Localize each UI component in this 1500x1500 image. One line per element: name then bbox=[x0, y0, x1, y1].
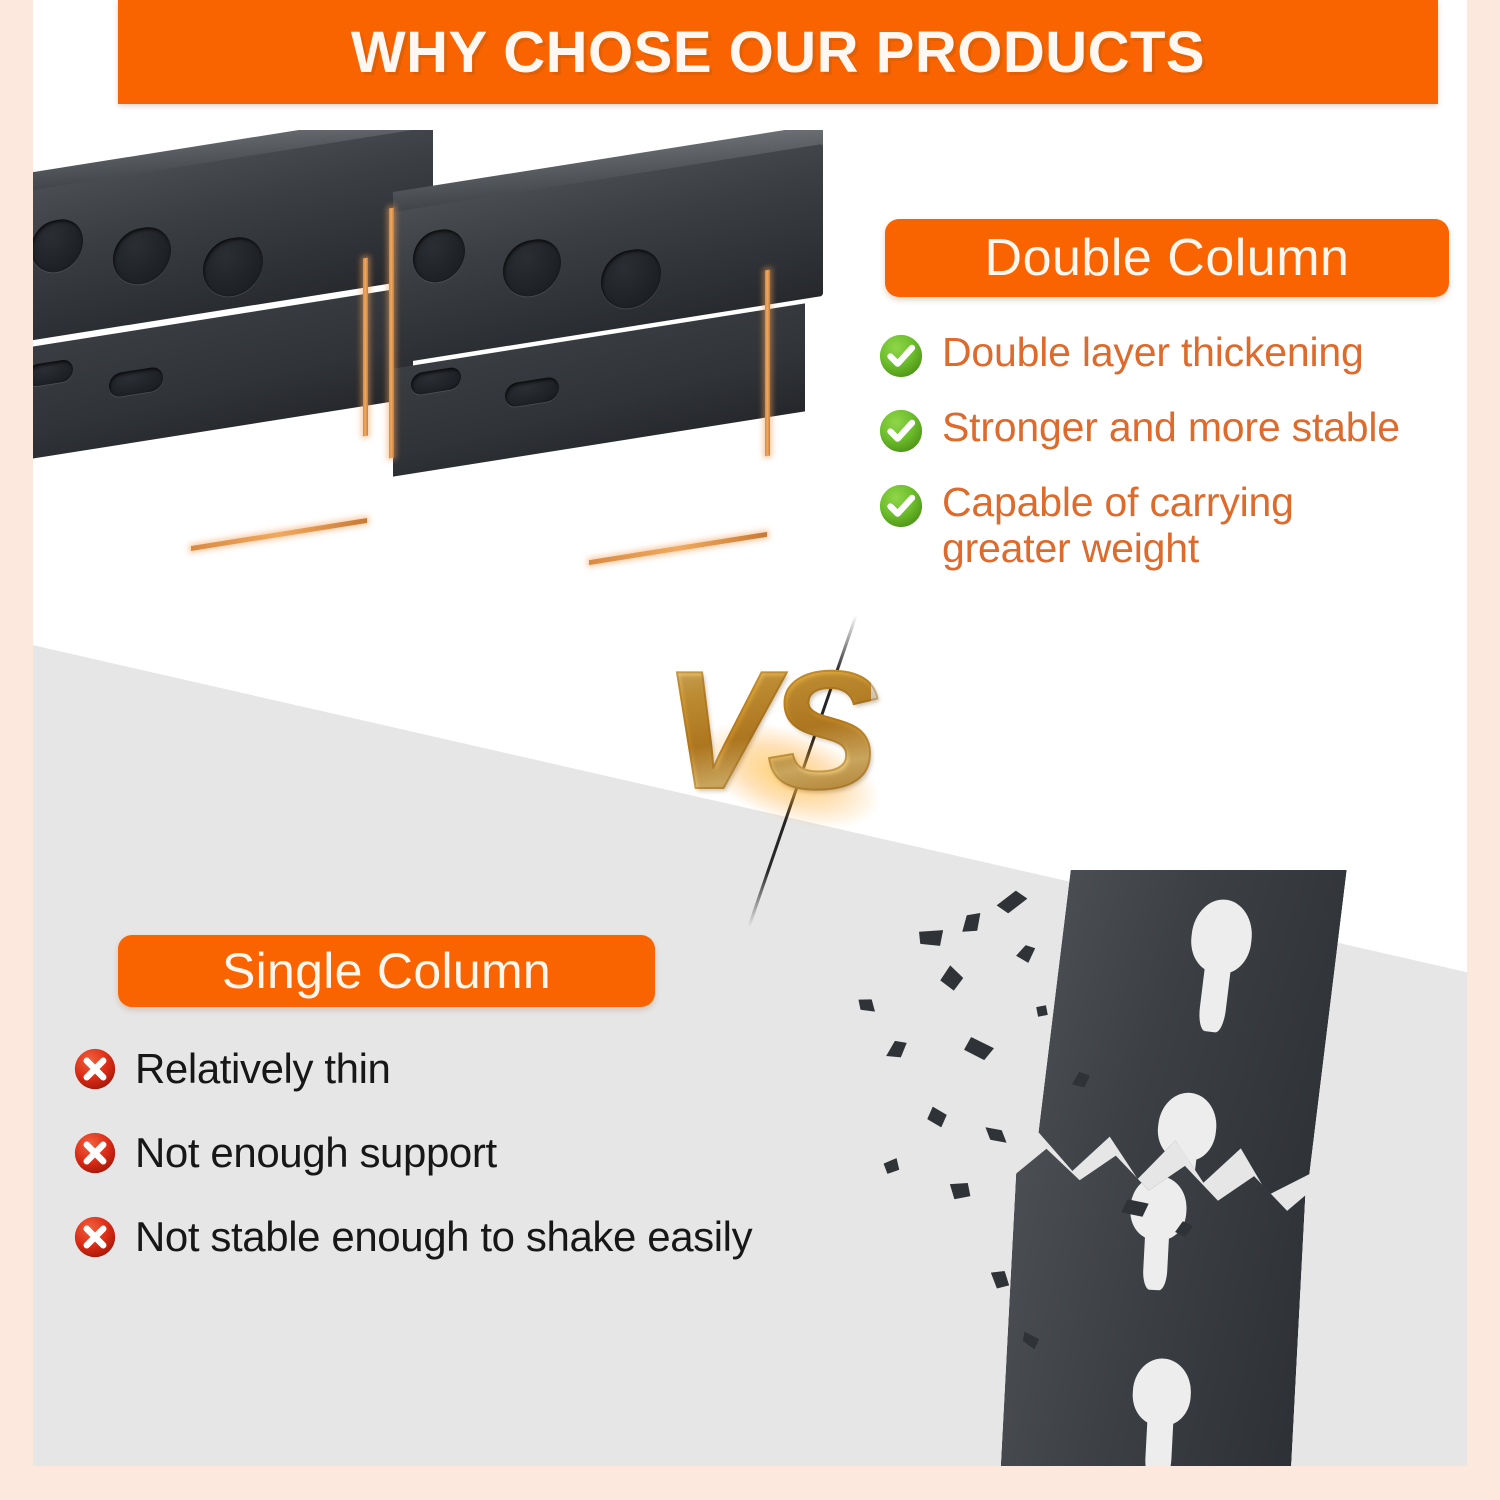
list-item: Double layer thickening bbox=[878, 330, 1467, 379]
drawback-text: Relatively thin bbox=[135, 1046, 390, 1092]
page-title: WHY CHOSE OUR PRODUCTS bbox=[351, 19, 1205, 86]
list-item: Capable of carrying greater weight bbox=[878, 480, 1467, 572]
debris-shard bbox=[939, 964, 966, 992]
cross-circle-icon bbox=[73, 1047, 117, 1091]
broken-column-photo bbox=[823, 870, 1467, 1466]
rail-copper-edge-bottom bbox=[589, 532, 767, 565]
drawback-text: Not enough support bbox=[135, 1130, 497, 1176]
cross-circle-icon bbox=[73, 1215, 117, 1259]
double-column-badge-label: Double Column bbox=[985, 228, 1350, 288]
debris-shard bbox=[855, 995, 879, 1016]
debris-shard bbox=[925, 1104, 949, 1130]
debris-shard bbox=[986, 1265, 1014, 1293]
debris-shard bbox=[1014, 942, 1040, 967]
list-item: Relatively thin bbox=[73, 1046, 903, 1092]
keyhole-stem bbox=[1145, 1409, 1174, 1466]
benefit-text: Stronger and more stable bbox=[942, 405, 1400, 451]
rail-copper-edge bbox=[765, 270, 770, 457]
list-item: Not stable enough to shake easily bbox=[73, 1214, 903, 1260]
rail-copper-edge bbox=[363, 258, 368, 437]
keyhole-stem bbox=[1142, 1224, 1170, 1291]
broken-post-lower-segment bbox=[1001, 1141, 1308, 1466]
debris-shard bbox=[957, 907, 988, 938]
debris-shard bbox=[880, 1154, 904, 1178]
benefit-text: Capable of carrying greater weight bbox=[942, 480, 1294, 572]
content-canvas: WHY CHOSE OUR PRODUCTS bbox=[33, 0, 1467, 1466]
list-item: Stronger and more stable bbox=[878, 405, 1467, 454]
rail-copper-edge-left bbox=[389, 208, 394, 459]
keyhole-slot bbox=[1181, 896, 1256, 1030]
double-column-benefit-list: Double layer thickening Stronger and mor… bbox=[878, 330, 1467, 598]
double-column-badge: Double Column bbox=[885, 219, 1449, 297]
cross-circle-icon bbox=[73, 1131, 117, 1175]
debris-shard bbox=[1032, 1001, 1051, 1020]
double-column-product-photo bbox=[33, 130, 863, 630]
debris-shard bbox=[883, 1036, 911, 1064]
benefit-text: Double layer thickening bbox=[942, 330, 1364, 376]
check-circle-icon bbox=[878, 333, 924, 379]
keyhole-slot bbox=[1129, 1357, 1193, 1466]
debris-shard bbox=[963, 1036, 995, 1062]
list-item: Not enough support bbox=[73, 1130, 903, 1176]
infographic-page: WHY CHOSE OUR PRODUCTS bbox=[0, 0, 1500, 1500]
header-banner: WHY CHOSE OUR PRODUCTS bbox=[118, 0, 1438, 104]
drawback-text: Not stable enough to shake easily bbox=[135, 1214, 752, 1260]
versus-label: VS bbox=[663, 646, 871, 814]
debris-shard bbox=[981, 1122, 1011, 1147]
single-column-drawback-list: Relatively thin Not enough support bbox=[73, 1046, 903, 1299]
single-column-badge: Single Column bbox=[118, 935, 655, 1007]
rail-copper-edge-bottom bbox=[191, 518, 367, 551]
debris-shard bbox=[948, 1181, 972, 1202]
check-circle-icon bbox=[878, 483, 924, 529]
debris-shard bbox=[917, 924, 948, 951]
check-circle-icon bbox=[878, 408, 924, 454]
debris-shard bbox=[995, 888, 1029, 917]
single-column-badge-label: Single Column bbox=[222, 942, 551, 1000]
